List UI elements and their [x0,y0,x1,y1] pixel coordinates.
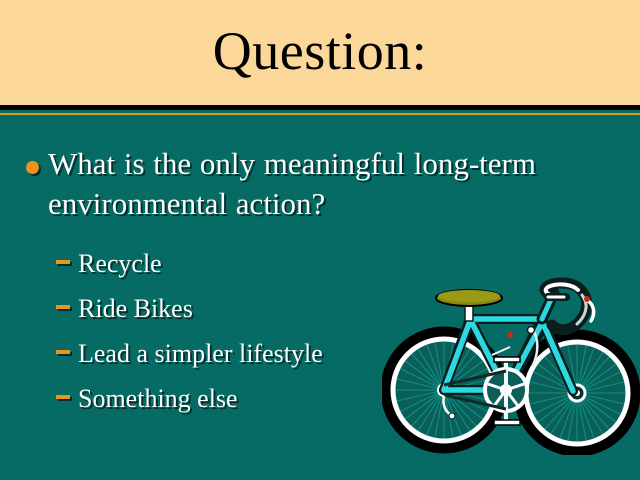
main-bullet-item: What is the only meaningful long-term en… [26,144,616,224]
dash-bullet-icon [56,395,70,399]
slide-title-band: Question: [0,0,640,105]
dash-bullet-icon [56,350,70,354]
main-bullet-text: What is the only meaningful long-term en… [48,144,616,224]
presentation-slide: Question: What is the only meaningful lo… [0,0,640,480]
dash-bullet-icon [56,305,70,309]
dash-bullet-icon [56,260,70,264]
bicycle-clipart-icon [382,275,640,455]
slide-body: What is the only meaningful long-term en… [0,115,640,480]
bullet-dot-icon [26,161,39,174]
page-title: Question: [213,24,428,78]
